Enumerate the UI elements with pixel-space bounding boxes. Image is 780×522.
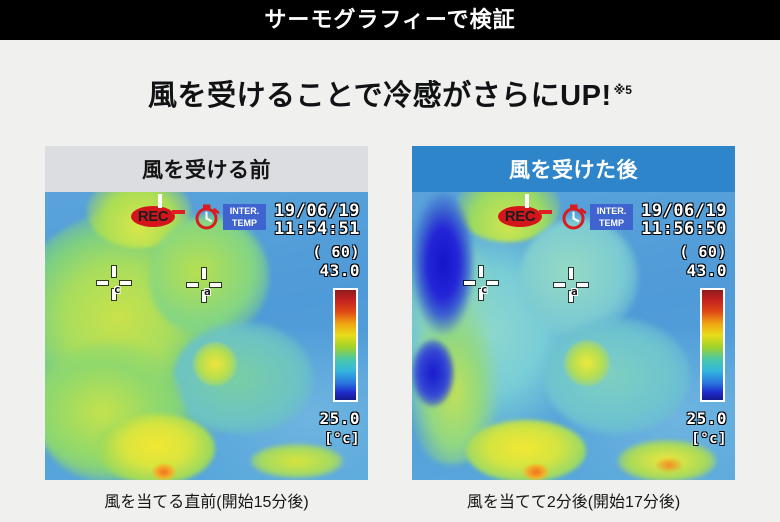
rec-label: REC	[138, 209, 168, 224]
temperature-colorbar-before	[333, 288, 358, 402]
crosshair-label: a	[571, 286, 578, 297]
caption-before: 風を当てる直前(開始15分後)	[45, 488, 368, 512]
comparison-panels: 風を受ける前 REC	[45, 146, 735, 480]
panel-after-header-label: 風を受けた後	[509, 154, 638, 184]
mode-badge-line1: INTER.	[225, 205, 264, 217]
crosshair-bar-left	[187, 283, 198, 287]
thermal-blob-lap	[173, 322, 313, 434]
thermal-blob-foot-hotspot	[656, 458, 682, 472]
thermal-blob-lap	[544, 318, 690, 434]
caption-after: 風を当てて2分後(開始17分後)	[412, 488, 735, 512]
crosshair-label: c	[481, 284, 488, 295]
crosshair-bar-top	[202, 268, 206, 279]
mode-badge-inter-temp-after: INTER. TEMP	[590, 204, 633, 230]
rec-dash-mark	[539, 210, 552, 214]
thermal-blob-hand-hotspot	[524, 464, 548, 480]
rec-dash-mark	[172, 210, 185, 214]
crosshair-label: c	[114, 284, 121, 295]
crosshair-bar-top	[479, 266, 483, 277]
measure-marker-c-after: c	[464, 266, 498, 300]
rec-tick-mark	[525, 194, 529, 208]
thermal-blob-cooled-region-lower	[412, 340, 454, 406]
panel-before-header: 風を受ける前	[45, 146, 368, 192]
panel-before-header-label: 風を受ける前	[142, 154, 271, 184]
stopwatch-icon	[560, 203, 587, 230]
panel-after: 風を受けた後 REC	[412, 146, 735, 480]
thermal-blob-hand-hotspot	[153, 464, 175, 480]
osd-max-temp-before: 43.0	[319, 262, 360, 280]
crosshair-bar-top	[569, 268, 573, 279]
thermal-blob-knee	[564, 340, 610, 386]
mode-badge-line2: TEMP	[592, 217, 631, 229]
stopwatch-icon	[193, 203, 220, 230]
mode-badge-line1: INTER.	[592, 205, 631, 217]
measure-marker-c-before: c	[97, 266, 131, 300]
crosshair-label: a	[204, 286, 211, 297]
panel-after-header: 風を受けた後	[412, 146, 735, 192]
rec-indicator-before: REC	[131, 206, 175, 227]
rec-indicator-after: REC	[498, 206, 542, 227]
crosshair-bar-right	[487, 281, 498, 285]
crosshair-bar-right	[120, 281, 131, 285]
page-headline-text: 風を受けることで冷感がさらにUP!	[148, 80, 612, 112]
headline-footnote-marker: ※5	[614, 83, 632, 97]
thermal-image-after: REC INTER. TEMP 19/06/19 11:56:50	[412, 192, 735, 480]
osd-time-after: 11:56:50	[641, 220, 727, 239]
osd-max-temp-after: 43.0	[686, 262, 727, 280]
osd-range-before: ( 60)	[312, 244, 360, 261]
crosshair-bar-left	[464, 281, 475, 285]
osd-range-after: ( 60)	[679, 244, 727, 261]
osd-unit-after: [°c]	[691, 432, 727, 448]
osd-min-temp-before: 25.0	[319, 410, 360, 428]
page-headline: 風を受けることで冷感がさらにUP!※5	[0, 72, 780, 114]
measure-marker-a-before: a	[187, 268, 221, 302]
rec-label: REC	[505, 209, 535, 224]
crosshair-bar-left	[97, 281, 108, 285]
crosshair-bar-right	[210, 283, 221, 287]
crosshair-bar-right	[577, 283, 588, 287]
temperature-colorbar-after	[700, 288, 725, 402]
thermal-image-before: REC INTER. TEMP 19/06/19 11:54:51	[45, 192, 368, 480]
section-title-text: サーモグラフィーで検証	[264, 9, 515, 31]
crosshair-bar-top	[112, 266, 116, 277]
section-title-bar: サーモグラフィーで検証	[0, 0, 780, 40]
rec-tick-mark	[158, 194, 162, 208]
mode-badge-line2: TEMP	[225, 217, 264, 229]
osd-unit-before: [°c]	[324, 432, 360, 448]
osd-min-temp-after: 25.0	[686, 410, 727, 428]
panel-before: 風を受ける前 REC	[45, 146, 368, 480]
mode-badge-inter-temp-before: INTER. TEMP	[223, 204, 266, 230]
thermal-blob-knee	[193, 342, 237, 386]
thermal-blob-foot	[251, 444, 343, 478]
measure-marker-a-after: a	[554, 268, 588, 302]
crosshair-bar-left	[554, 283, 565, 287]
osd-time-before: 11:54:51	[274, 220, 360, 239]
